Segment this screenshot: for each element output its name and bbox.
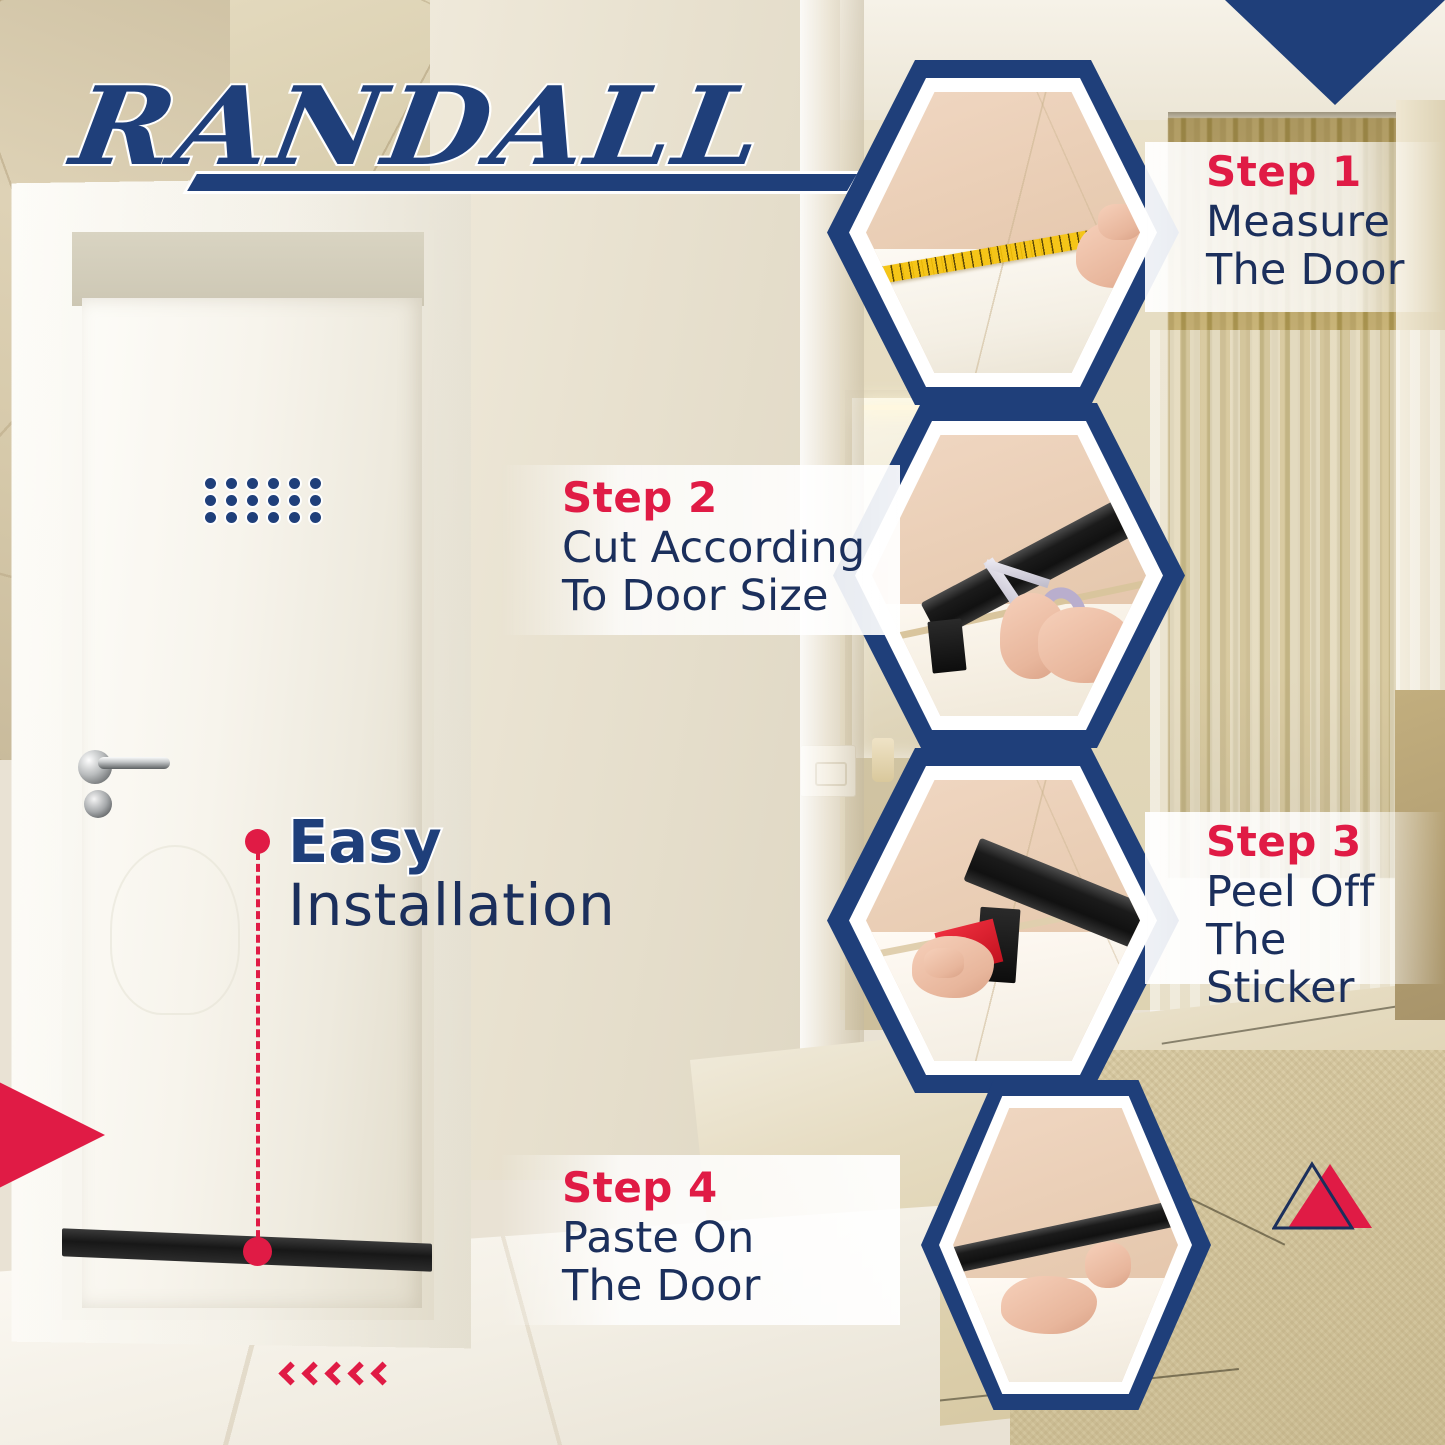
step-2-title: Cut According To Door Size xyxy=(562,524,865,620)
step-3-number: Step 3 xyxy=(1206,820,1445,864)
callout-dot-bottom-icon xyxy=(243,1237,272,1266)
headline-line-2: Installation xyxy=(288,875,615,936)
door-reflection xyxy=(110,845,240,1015)
step-3-title: Peel Off The Sticker xyxy=(1206,868,1445,1012)
callout-dot-top-icon xyxy=(245,829,270,854)
step-1-block: Step 1 Measure The Door xyxy=(1206,150,1405,294)
hand-icon xyxy=(1001,1276,1097,1334)
step-4-title: Paste On The Door xyxy=(562,1214,761,1310)
door-lock-icon xyxy=(84,790,112,818)
infographic-canvas: RANDALL Step 1 Measure The Door Step 2 xyxy=(0,0,1445,1445)
brand-wordmark: RANDALL xyxy=(66,76,889,179)
step-2-number: Step 2 xyxy=(562,476,865,520)
double-triangle-logo-icon xyxy=(1272,1160,1382,1240)
door-dot-grid xyxy=(205,478,331,523)
door-header-shadow xyxy=(72,232,424,306)
chevron-arrows-icon xyxy=(282,1365,391,1382)
door-handle-lever-icon xyxy=(98,757,170,769)
door-leaf xyxy=(82,298,422,1308)
step-3-block: Step 3 Peel Off The Sticker xyxy=(1206,820,1445,1013)
step-1-title: Measure The Door xyxy=(1206,198,1405,294)
corner-triangle-crimson-icon xyxy=(0,1035,105,1235)
step-4-number: Step 4 xyxy=(562,1166,761,1210)
corner-triangle-navy-icon xyxy=(1225,0,1445,105)
headline-line-1: Easy xyxy=(288,812,615,871)
callout-dashed-line xyxy=(256,852,260,1250)
headline-block: Easy Installation xyxy=(288,812,615,936)
step-1-number: Step 1 xyxy=(1206,150,1405,194)
step-4-block: Step 4 Paste On The Door xyxy=(562,1166,761,1310)
brand-underline-bar xyxy=(187,174,857,191)
step-2-block: Step 2 Cut According To Door Size xyxy=(562,476,865,620)
brand-logo: RANDALL xyxy=(74,76,794,179)
soap-dispenser xyxy=(872,738,894,782)
